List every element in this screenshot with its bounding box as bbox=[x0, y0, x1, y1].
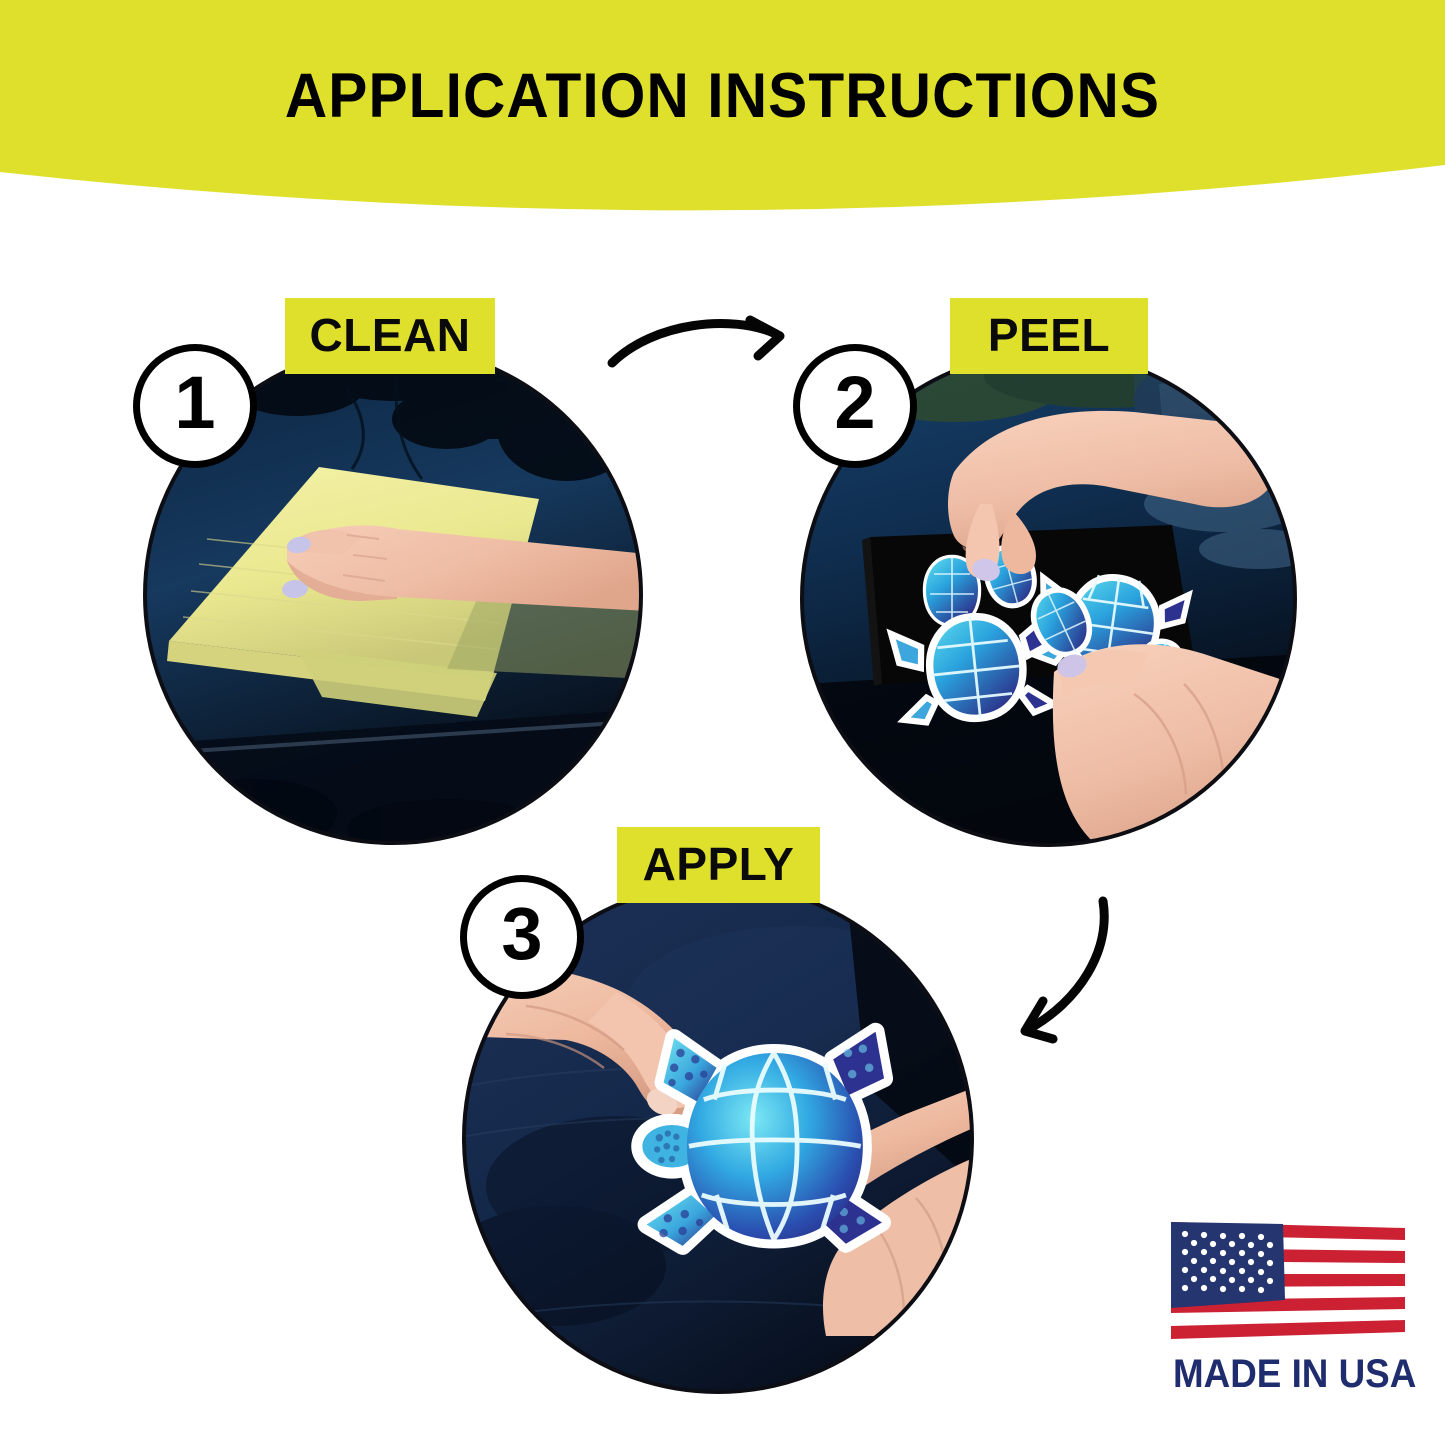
step-2-label: PEEL bbox=[950, 298, 1148, 374]
step-2-peel: 2 PEEL bbox=[800, 350, 1297, 847]
arrow-step2-to-step3-icon bbox=[985, 895, 1160, 1070]
made-in-usa-text: MADE IN USA bbox=[1173, 1352, 1403, 1397]
step-1-clean: 1 CLEAN bbox=[143, 345, 643, 845]
step-1-label: CLEAN bbox=[285, 298, 495, 374]
made-in-usa-badge: MADE IN USA bbox=[1163, 1210, 1413, 1400]
turtle-shell bbox=[687, 1053, 863, 1240]
hand-lower bbox=[1053, 644, 1297, 847]
step-1-number-badge: 1 bbox=[133, 344, 257, 468]
turtle-sticker-large bbox=[640, 1032, 884, 1246]
step-3-label: APPLY bbox=[617, 827, 820, 903]
usa-flag-icon bbox=[1163, 1210, 1413, 1350]
step-2-number: 2 bbox=[834, 366, 875, 440]
step-2-label-text: PEEL bbox=[988, 312, 1110, 358]
page-title: APPLICATION INSTRUCTIONS bbox=[51, 60, 1395, 132]
step-1-label-text: CLEAN bbox=[310, 312, 471, 358]
step-3-apply: 3 APPLY bbox=[462, 882, 974, 1394]
step-2-number-badge: 2 bbox=[793, 344, 917, 468]
step-1-number: 1 bbox=[174, 366, 215, 440]
step-3-label-text: APPLY bbox=[643, 841, 795, 887]
header-banner: APPLICATION INSTRUCTIONS bbox=[0, 0, 1445, 240]
step-3-number-badge: 3 bbox=[460, 875, 584, 999]
step-3-number: 3 bbox=[501, 897, 542, 971]
